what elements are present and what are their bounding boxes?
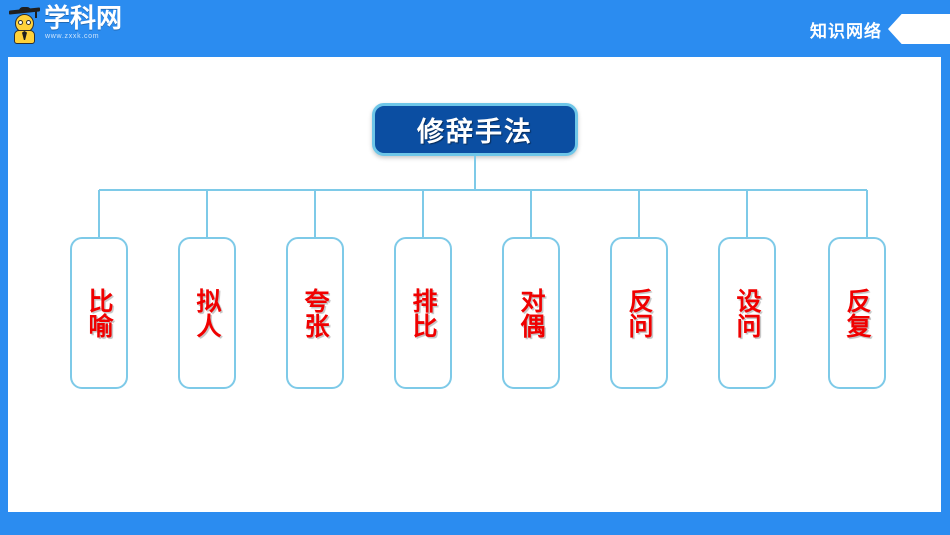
slide-root: 学科网 www.zxxk.com 知识网络 修辞手法	[0, 0, 950, 535]
leaf-node-label: 夸张	[300, 288, 330, 338]
graduation-mascot-icon	[8, 5, 42, 43]
leaf-node-7[interactable]: 设问	[718, 237, 776, 389]
diagram-root-node[interactable]: 修辞手法	[372, 103, 578, 156]
leaf-node-8[interactable]: 反复	[828, 237, 886, 389]
site-logo[interactable]: 学科网 www.zxxk.com	[8, 3, 120, 45]
logo-text-block: 学科网 www.zxxk.com	[44, 3, 120, 45]
mascot-eye-left	[18, 20, 23, 25]
section-title: 知识网络	[810, 17, 882, 42]
left-pointing-banner-icon	[888, 14, 950, 44]
header-bar: 学科网 www.zxxk.com 知识网络	[0, 0, 950, 57]
leaf-node-label: 比喻	[84, 288, 114, 338]
leaf-node-label: 拟人	[192, 288, 222, 338]
leaf-node-6[interactable]: 反问	[610, 237, 668, 389]
diagram-root-label: 修辞手法	[417, 110, 533, 149]
mascot-eye-right	[26, 20, 31, 25]
leaf-node-label: 反问	[624, 288, 654, 338]
leaf-node-label: 反复	[842, 288, 872, 338]
header-section-banner: 知识网络	[810, 12, 950, 46]
leaf-node-label: 排比	[408, 288, 438, 338]
logo-site-name: 学科网	[44, 3, 122, 33]
leaf-node-1[interactable]: 比喻	[70, 237, 128, 389]
leaf-node-4[interactable]: 排比	[394, 237, 452, 389]
leaf-node-label: 设问	[732, 288, 762, 338]
leaf-node-2[interactable]: 拟人	[178, 237, 236, 389]
leaf-node-label: 对偶	[516, 288, 546, 338]
diagram-canvas: 修辞手法 比喻 拟人	[8, 57, 941, 512]
leaf-node-5[interactable]: 对偶	[502, 237, 560, 389]
cap-tassel	[35, 9, 37, 18]
logo-site-url: www.zxxk.com	[45, 32, 99, 41]
leaf-node-3[interactable]: 夸张	[286, 237, 344, 389]
